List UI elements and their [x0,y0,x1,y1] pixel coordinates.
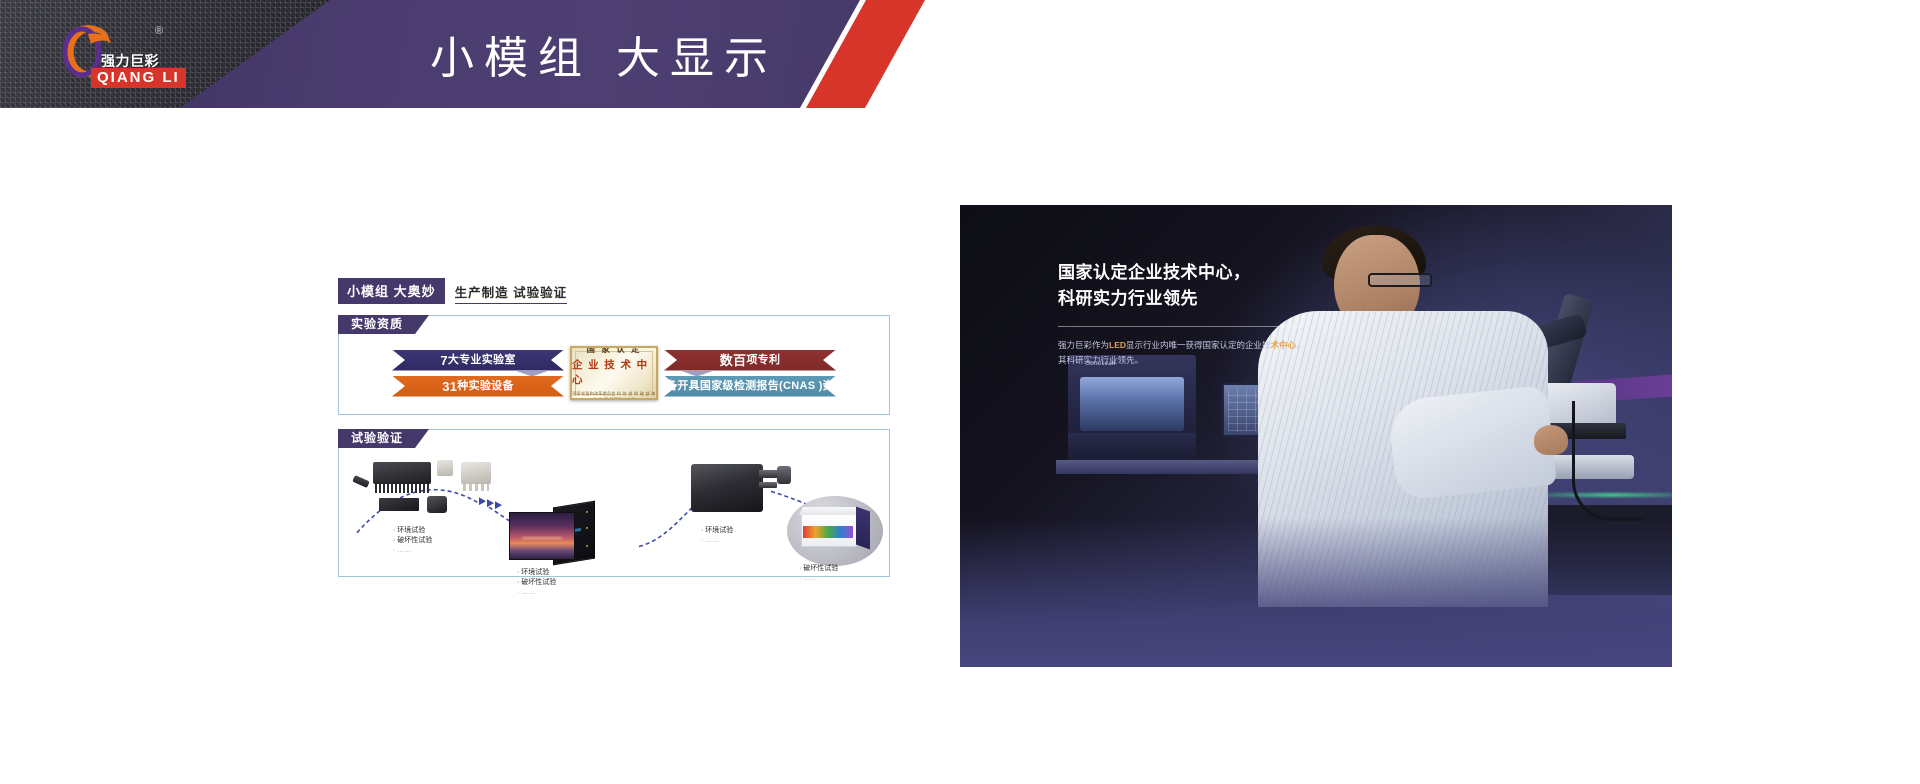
stage-components-item-1: · 破坏性试验 [393,536,432,546]
qualification-right-arrows: 数百项专利 具备开具国家级检测报告(CNAS )资格 [664,350,836,397]
stage-carton-item-1: · …… [799,574,838,584]
bar-labs[interactable]: 7大专业实验室 [392,350,564,371]
stage-components-item-0: · 环境试验 [393,526,432,536]
technician-glasses [1368,273,1432,287]
feature-body-text: 强力巨彩作为LED显示行业内唯一获得国家认定的企业技术中心，其科研实力行业领先。 [1058,338,1306,368]
feature-body-pre: 强力巨彩作为 [1058,340,1109,350]
qualification-panel: 实验资质 7大专业实验室 31种实验设备 国 家 认 定 [338,315,890,415]
feature-title-line-1: 国家认定企业技术中心， [1058,260,1358,286]
equipment-cable [1572,401,1642,521]
stage-module-item-0: · 环境试验 [517,568,556,578]
page-title: 小模组 大显示 [430,22,778,86]
left-content-column: 小模组 大奥妙 生产制造 试验验证 实验资质 7大专业实验室 31种实验设备 [338,282,890,577]
bar-cnas-text: 具备开具国家级检测报告(CNAS )资格 [655,376,846,397]
stage-carton-graphic [787,496,883,566]
bar-patents-number: 数百 [720,350,747,371]
stage-power-item-1: · …… [701,536,733,546]
national-certificate-plaque: 国 家 认 定 企 业 技 术 中 心 国家发展和改革委员会 科 技 部 财 政… [570,346,658,400]
feature-divider [1058,326,1303,327]
tab-active[interactable]: 小模组 大奥妙 [338,278,445,304]
section-tabs: 小模组 大奥妙 生产制造 试验验证 [338,282,890,304]
carton-color-strip [803,526,853,538]
stage-carton-item-0: · 破坏性试验 [799,564,838,574]
sonoscan-base [1068,433,1196,463]
verification-panel: 试验验证 [338,429,890,577]
bar-equipment-text: 种实验设备 [457,376,514,397]
bar-patents[interactable]: 数百项专利 [664,350,836,371]
bar-equipment-number: 31 [442,376,457,397]
plaque-line-3: 国家发展和改革委员会 科 技 部 财 政 部 海 关 总 署 国家税务总局 [572,391,656,400]
sonoscan-machine: Sonoscan [1068,355,1196,463]
stage-module-item-2: · …… [517,588,556,598]
feature-body-mid: 显示行业内唯一获得国家认定的企业技 [1126,340,1271,350]
brand-logo[interactable]: ® 强力巨彩 QIANG LI [55,18,185,90]
plaque-line-2: 企 业 技 术 中 心 [572,357,656,387]
bar-equipment[interactable]: 31种实验设备 [392,376,564,397]
logo-english-name: QIANG LI [91,68,186,88]
bar-patents-text: 项专利 [746,350,780,371]
bar-labs-text: 大专业实验室 [448,350,516,371]
stage-module-labels: · 环境试验 · 破坏性试验 · …… [517,568,556,598]
technician-arm [1387,385,1557,501]
stage-components-item-2: · …… [393,546,432,556]
verification-tag: 试验验证 [338,429,429,448]
bar-labs-number: 7 [440,350,448,371]
plaque-line-1: 国 家 认 定 [586,346,641,355]
technician-hand [1534,425,1568,455]
verification-flow: · 环境试验 · 破坏性试验 · …… · 环境试验 · [339,452,889,576]
photo-bottom-fade [960,517,1672,667]
carton-side-face [856,506,870,549]
plaque-wrapper: 国 家 认 定 企 业 技 术 中 心 国家发展和改革委员会 科 技 部 财 政… [568,346,660,400]
stage-module-item-1: · 破坏性试验 [517,578,556,588]
registered-mark: ® [155,26,163,37]
feature-text-block: 国家认定企业技术中心， 科研实力行业领先 强力巨彩作为LED显示行业内唯一获得国… [1058,260,1358,367]
stage-power-labels: · 环境试验 · …… [701,526,733,546]
stage-power-item-0: · 环境试验 [701,526,733,536]
lab-feature-panel: Sonoscan 厦门强力巨彩光电 Xiamen Qiangli Jucai O… [960,205,1672,667]
feature-title-line-2: 科研实力行业领先 [1058,286,1358,312]
stage-carton-labels: · 破坏性试验 · …… [799,564,838,584]
carton-top-face [799,507,859,515]
qualification-left-arrows: 7大专业实验室 31种实验设备 [392,350,564,397]
qualification-row: 7大专业实验室 31种实验设备 国 家 认 定 企 业 技 术 中 心 国家发展… [339,338,889,408]
tab-secondary-group[interactable]: 生产制造 试验验证 [455,282,567,304]
stage-components-labels: · 环境试验 · 破坏性试验 · …… [393,526,432,556]
feature-body-highlight-1: LED [1109,340,1126,350]
poster-page: ® 强力巨彩 QIANG LI 小模组 大显示 小模组 大奥妙 生产制造 试验验… [0,0,1920,784]
qualification-tag: 实验资质 [338,315,429,334]
sonoscan-window [1080,377,1184,431]
feature-body-highlight-2: 术中心 [1271,340,1297,350]
bar-cnas[interactable]: 具备开具国家级检测报告(CNAS )资格 [664,376,836,397]
page-header: ® 强力巨彩 QIANG LI 小模组 大显示 [0,0,1920,108]
